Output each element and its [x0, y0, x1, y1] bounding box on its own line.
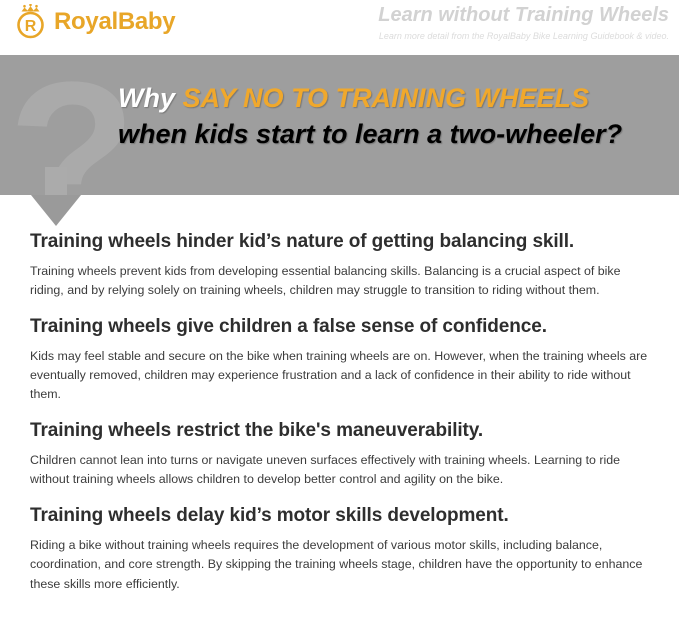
reason-section-4: Training wheels delay kid’s motor skills…	[30, 503, 649, 593]
reason-section-2: Training wheels give children a false se…	[30, 314, 649, 404]
header-tagline-block: Learn without Training Wheels Learn more…	[378, 0, 679, 41]
hero-headline-line-1: Why SAY NO TO TRAINING WHEELS	[118, 81, 669, 117]
royalbaby-crown-r-logo-icon: R	[13, 4, 49, 40]
reason-section-3: Training wheels restrict the bike's mane…	[30, 418, 649, 489]
reasons-list: Training wheels hinder kid’s nature of g…	[0, 225, 679, 594]
svg-text:R: R	[25, 18, 37, 35]
hero-banner: ? Why SAY NO TO TRAINING WHEELS when kid…	[0, 55, 679, 195]
header-tagline: Learn without Training Wheels	[378, 4, 669, 27]
reason-title: Training wheels give children a false se…	[30, 314, 649, 340]
page-header: R RoyalBaby Learn without Training Wheel…	[0, 0, 679, 55]
reason-body: Training wheels prevent kids from develo…	[30, 262, 649, 300]
hero-banner-wrap: ? Why SAY NO TO TRAINING WHEELS when kid…	[0, 55, 679, 225]
hero-headline-highlight: SAY NO TO TRAINING WHEELS	[183, 83, 590, 113]
reason-section-1: Training wheels hinder kid’s nature of g…	[30, 229, 649, 300]
brand-logo[interactable]: R RoyalBaby	[0, 0, 175, 40]
brand-name: RoyalBaby	[54, 10, 175, 34]
reason-title: Training wheels delay kid’s motor skills…	[30, 503, 649, 529]
arrow-stem	[45, 167, 67, 195]
header-subtitle: Learn more detail from the RoyalBaby Bik…	[378, 31, 669, 41]
reason-body: Riding a bike without training wheels re…	[30, 536, 649, 594]
reason-title: Training wheels hinder kid’s nature of g…	[30, 229, 649, 255]
reason-body: Kids may feel stable and secure on the b…	[30, 347, 649, 405]
hero-headline-why: Why	[118, 83, 183, 113]
reason-title: Training wheels restrict the bike's mane…	[30, 418, 649, 444]
hero-headline: Why SAY NO TO TRAINING WHEELS when kids …	[118, 81, 669, 153]
reason-body: Children cannot lean into turns or navig…	[30, 451, 649, 489]
hero-headline-line-2: when kids start to learn a two-wheeler?	[118, 117, 669, 153]
arrow-head-icon	[31, 195, 81, 226]
